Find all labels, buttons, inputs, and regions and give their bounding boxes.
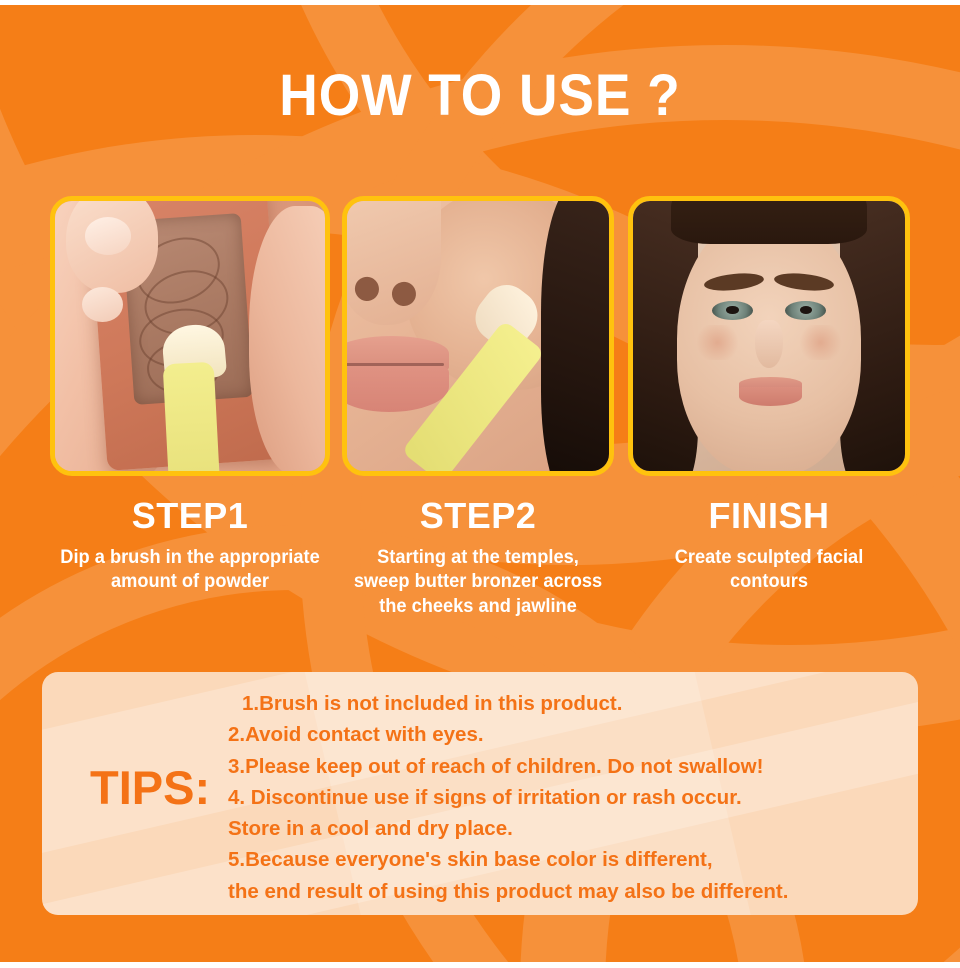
tips-item-4-continued: Store in a cool and dry place. xyxy=(228,815,888,842)
tips-item-3: 3.Please keep out of reach of children. … xyxy=(228,753,888,780)
blush-left xyxy=(693,325,742,360)
brush-handle xyxy=(162,362,220,471)
step-2-title: STEP2 xyxy=(342,498,614,534)
tips-item-1: 1.Brush is not included in this product. xyxy=(228,690,888,717)
tips-item-5: 5.Because everyone's skin base color is … xyxy=(228,846,888,873)
blush-right xyxy=(796,325,845,360)
lower-lip xyxy=(739,387,802,406)
how-to-use-poster: HOW TO USE ? xyxy=(0,0,960,968)
lip-line xyxy=(347,363,444,366)
tips-panel: TIPS: 1.Brush is not included in this pr… xyxy=(42,672,918,915)
step-1-photo xyxy=(55,201,325,471)
lower-lip xyxy=(347,363,449,412)
hair-shape xyxy=(541,201,609,471)
step-3-image-frame xyxy=(628,196,910,476)
step-2-image-frame xyxy=(342,196,614,476)
fingers-right xyxy=(249,206,325,471)
tips-label: TIPS: xyxy=(90,764,210,811)
step-3-description: Create sculpted facial contours xyxy=(634,546,905,595)
step-card-2: STEP2 Starting at the temples, sweep but… xyxy=(342,196,614,619)
tips-list: 1.Brush is not included in this product.… xyxy=(228,690,888,909)
fingernail-2 xyxy=(82,287,123,322)
hair-top xyxy=(671,201,867,244)
tips-item-4: 4. Discontinue use if signs of irritatio… xyxy=(228,784,888,811)
step-3-photo xyxy=(633,201,905,471)
step-1-image-frame xyxy=(50,196,330,476)
step-2-description: Starting at the temples, sweep butter br… xyxy=(347,546,608,619)
step-1-description: Dip a brush in the appropriate amount of… xyxy=(56,546,325,595)
step-card-3: FINISH Create sculpted facial contours xyxy=(628,196,910,595)
steps-row: STEP1 Dip a brush in the appropriate amo… xyxy=(0,196,960,626)
step-1-title: STEP1 xyxy=(50,498,330,534)
step-2-photo xyxy=(347,201,609,471)
fingernail-1 xyxy=(85,217,131,255)
step-3-title: FINISH xyxy=(628,498,910,534)
step-card-1: STEP1 Dip a brush in the appropriate amo… xyxy=(50,196,330,595)
nose-shape xyxy=(755,320,782,369)
page-title: HOW TO USE ? xyxy=(38,62,921,129)
tips-item-5-continued: the end result of using this product may… xyxy=(228,878,888,905)
tips-item-2: 2.Avoid contact with eyes. xyxy=(228,721,888,748)
